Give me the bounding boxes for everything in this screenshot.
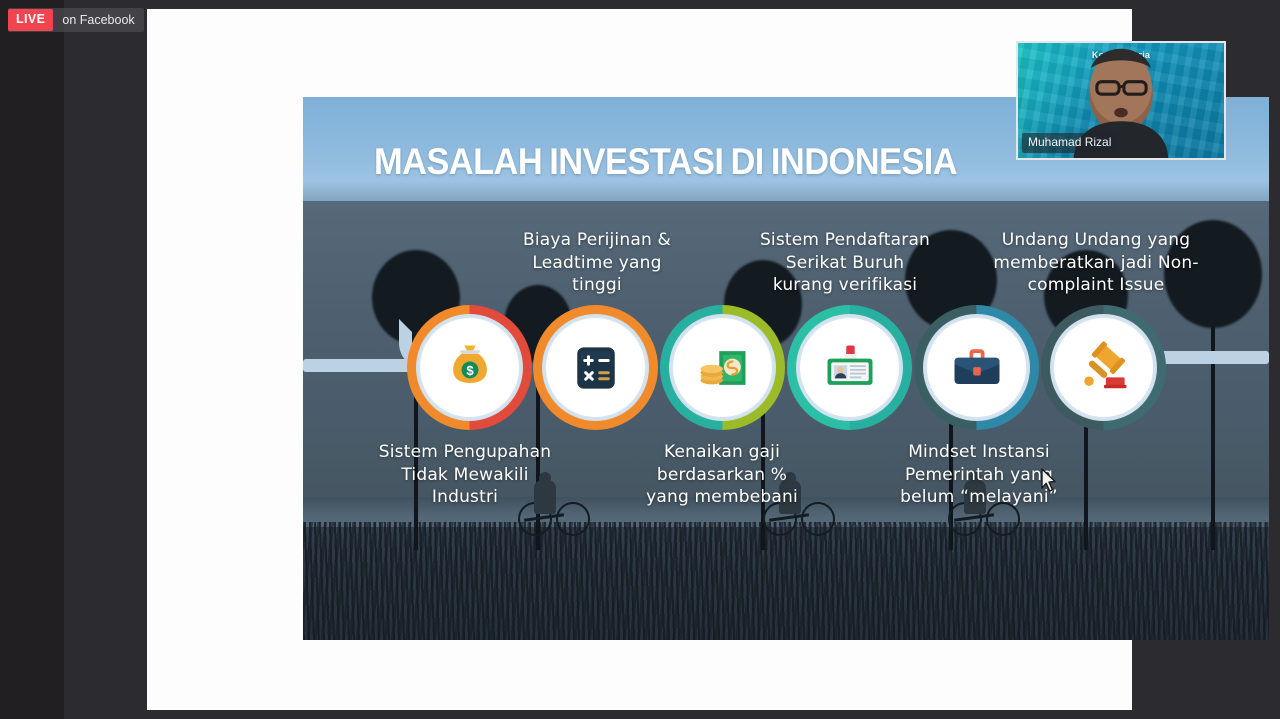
process-node-4[interactable] <box>787 305 912 430</box>
node-label-bottom-1: Sistem Pengupahan Tidak Mewakili Industr… <box>350 441 580 509</box>
process-node-2[interactable] <box>533 305 658 430</box>
participant-name-label: Muhamad Rizal <box>1022 133 1117 153</box>
process-node-5[interactable] <box>914 305 1039 430</box>
process-node-6[interactable] <box>1041 305 1166 430</box>
svg-text:$: $ <box>466 363 474 378</box>
node-label-bottom-2: Kenaikan gaji berdasarkan % yang membeba… <box>607 441 837 509</box>
node-label-bottom-3: Mindset Instansi Pemerintah yang belum “… <box>864 441 1094 509</box>
process-node-1[interactable]: $ <box>407 305 532 430</box>
id-card-icon <box>800 318 899 417</box>
cash-coins-icon <box>673 318 772 417</box>
gavel-icon <box>1054 318 1153 417</box>
node-label-top-3: Undang Undang yang memberatkan jadi Non-… <box>981 229 1211 297</box>
process-node-3[interactable] <box>660 305 785 430</box>
left-dark-rail <box>0 0 64 719</box>
live-badge: LIVE on Facebook <box>8 8 144 32</box>
live-source-label: on Facebook <box>53 14 134 27</box>
node-label-top-1: Biaya Perijinan & Leadtime yang tinggi <box>482 229 712 297</box>
money-bag-icon: $ <box>420 318 519 417</box>
calculator-icon <box>546 318 645 417</box>
participant-video-tile[interactable]: Kepa… Kerja dan …si Muhamad Rizal <box>1016 41 1226 160</box>
live-indicator-pill: LIVE <box>8 9 53 31</box>
slide-white-frame[interactable]: MASALAH INVESTASI DI INDONESIA $ <box>147 9 1132 710</box>
slide-artwork[interactable]: MASALAH INVESTASI DI INDONESIA $ <box>303 97 1269 640</box>
briefcase-icon <box>927 318 1026 417</box>
mouse-cursor <box>1040 468 1058 494</box>
node-label-top-2: Sistem Pendaftaran Serikat Buruh kurang … <box>730 229 960 297</box>
process-circle-row: $ <box>303 97 1269 640</box>
